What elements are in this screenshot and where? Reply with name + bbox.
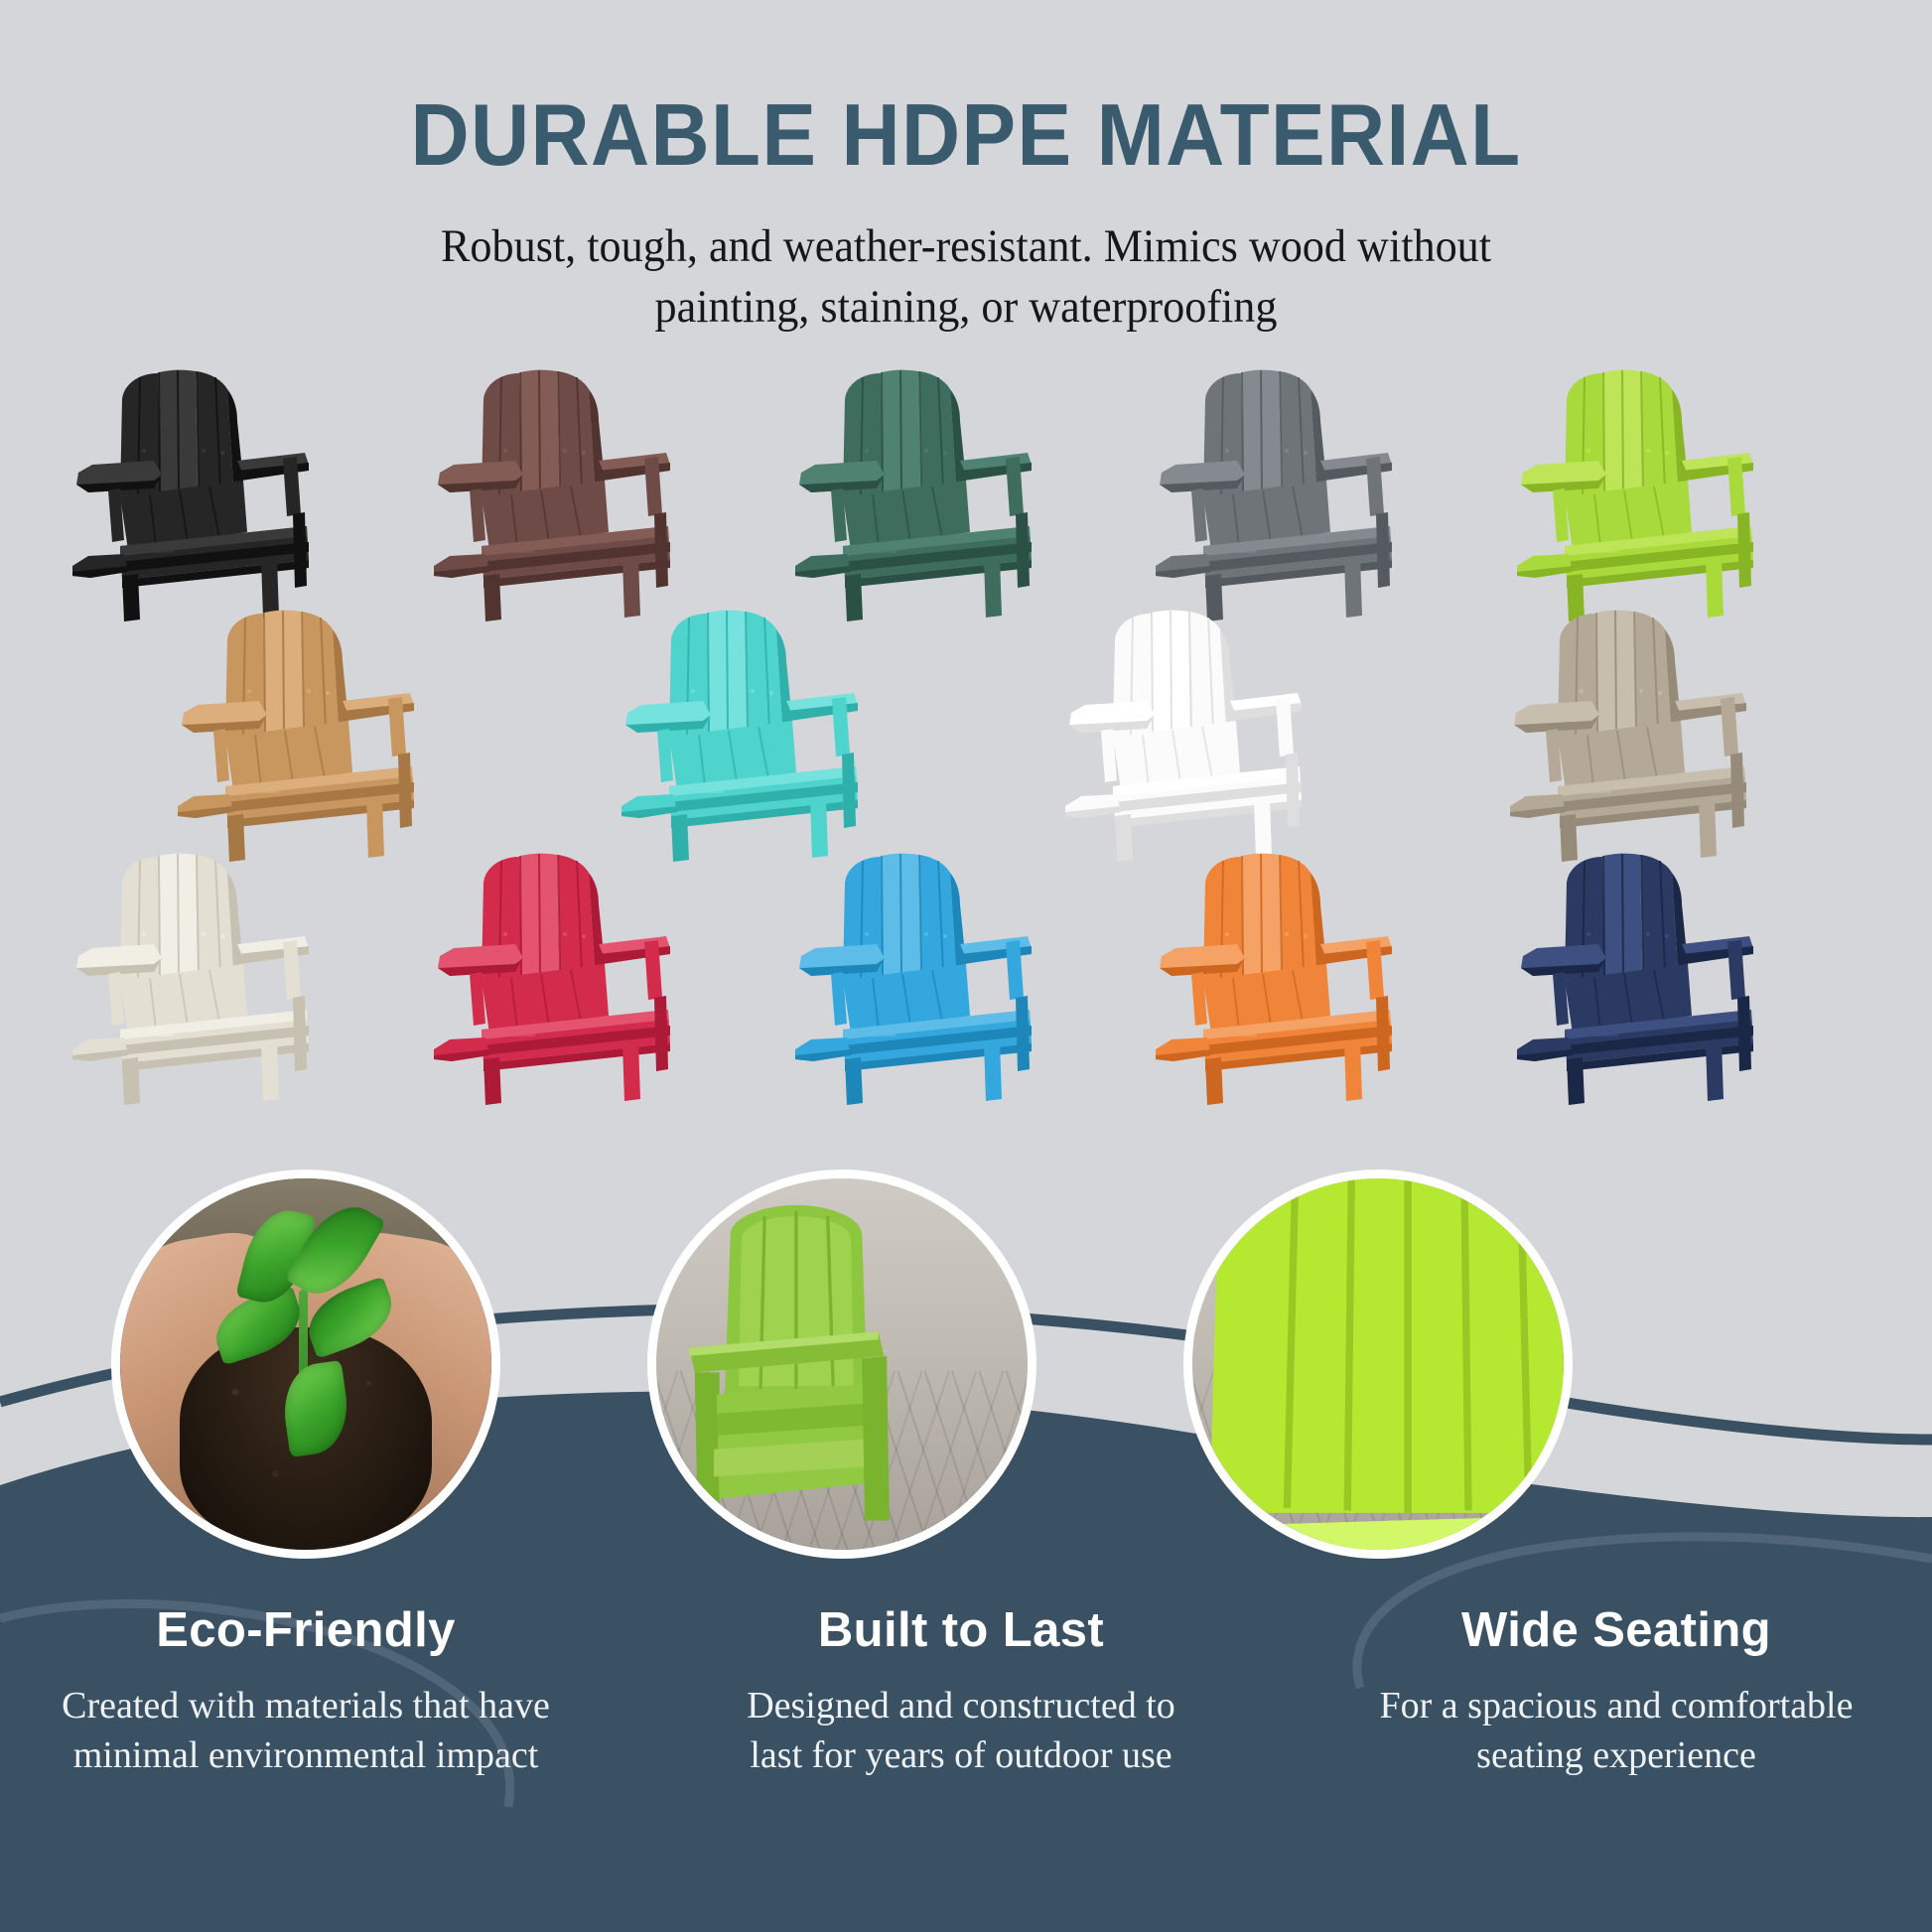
feature-image-built-to-last: [647, 1170, 1036, 1559]
adirondack-chair-icon: [1503, 365, 1761, 621]
chair-swatch-teak[interactable]: [164, 606, 422, 862]
caption-body-line-2: last for years of outdoor use: [683, 1730, 1239, 1780]
caption-body-line-2: seating experience: [1338, 1730, 1894, 1780]
adirondack-chair-icon: [781, 849, 1039, 1105]
caption-body-line-1: For a spacious and comfortable: [1338, 1681, 1894, 1730]
header: DURABLE HDPE MATERIAL Robust, tough, and…: [0, 91, 1932, 338]
chair-swatch-white[interactable]: [1051, 606, 1310, 862]
adirondack-chair-icon: [1496, 606, 1754, 862]
caption-heading: Wide Seating: [1338, 1606, 1894, 1655]
caption-wide-seating: Wide Seating For a spacious and comforta…: [1338, 1606, 1894, 1780]
caption-body-line-1: Created with materials that have: [28, 1681, 584, 1730]
adirondack-chair-icon: [420, 365, 678, 621]
adirondack-chair-icon: [1051, 606, 1310, 862]
feature-image-circles: [0, 1170, 1932, 1587]
feature-image-wide-seating: [1183, 1170, 1573, 1559]
adirondack-chair-icon: [59, 849, 317, 1105]
adirondack-chair-icon: [608, 606, 866, 862]
caption-eco-friendly: Eco-Friendly Created with materials that…: [28, 1606, 584, 1780]
adirondack-chair-icon: [164, 606, 422, 862]
chair-swatch-orange[interactable]: [1142, 849, 1400, 1105]
chair-swatch-red[interactable]: [420, 849, 678, 1105]
caption-body: Created with materials that have minimal…: [28, 1681, 584, 1780]
adirondack-chair-icon: [1503, 849, 1761, 1105]
adirondack-chair-icon: [1142, 365, 1400, 621]
adirondack-chair-icon: [420, 849, 678, 1105]
caption-built-to-last: Built to Last Designed and constructed t…: [683, 1606, 1239, 1780]
chair-swatch-ivory[interactable]: [59, 849, 317, 1105]
caption-heading: Eco-Friendly: [28, 1606, 584, 1655]
feature-image-eco-friendly: [111, 1170, 500, 1559]
subtitle-line-2: painting, staining, or waterproofing: [58, 277, 1873, 338]
adirondack-chair-icon: [59, 365, 317, 621]
chair-swatch-turquoise[interactable]: [608, 606, 866, 862]
chair-row-1: [0, 365, 1932, 621]
chair-swatch-black[interactable]: [59, 365, 317, 621]
caption-body-line-1: Designed and constructed to: [683, 1681, 1239, 1730]
chair-row-2: [0, 606, 1932, 862]
caption-body-line-2: minimal environmental impact: [28, 1730, 584, 1780]
page-subtitle: Robust, tough, and weather-resistant. Mi…: [58, 216, 1873, 338]
subtitle-line-1: Robust, tough, and weather-resistant. Mi…: [58, 216, 1873, 277]
caption-body: Designed and constructed to last for yea…: [683, 1681, 1239, 1780]
feature-captions: Eco-Friendly Created with materials that…: [0, 1606, 1932, 1894]
caption-body: For a spacious and comfortable seating e…: [1338, 1681, 1894, 1780]
adirondack-chair-icon: [781, 365, 1039, 621]
caption-heading: Built to Last: [683, 1606, 1239, 1655]
chair-color-grid: [0, 365, 1932, 1239]
chair-swatch-weathered-wood[interactable]: [1496, 606, 1754, 862]
page-title: DURABLE HDPE MATERIAL: [68, 91, 1864, 179]
chair-swatch-navy-blue[interactable]: [1503, 849, 1761, 1105]
chair-swatch-dark-green[interactable]: [781, 365, 1039, 621]
chair-swatch-gray[interactable]: [1142, 365, 1400, 621]
adirondack-chair-icon: [1142, 849, 1400, 1105]
chair-row-3: [0, 849, 1932, 1105]
chair-swatch-lime-green[interactable]: [1503, 365, 1761, 621]
chair-swatch-blue[interactable]: [781, 849, 1039, 1105]
chair-swatch-mahogany[interactable]: [420, 365, 678, 621]
